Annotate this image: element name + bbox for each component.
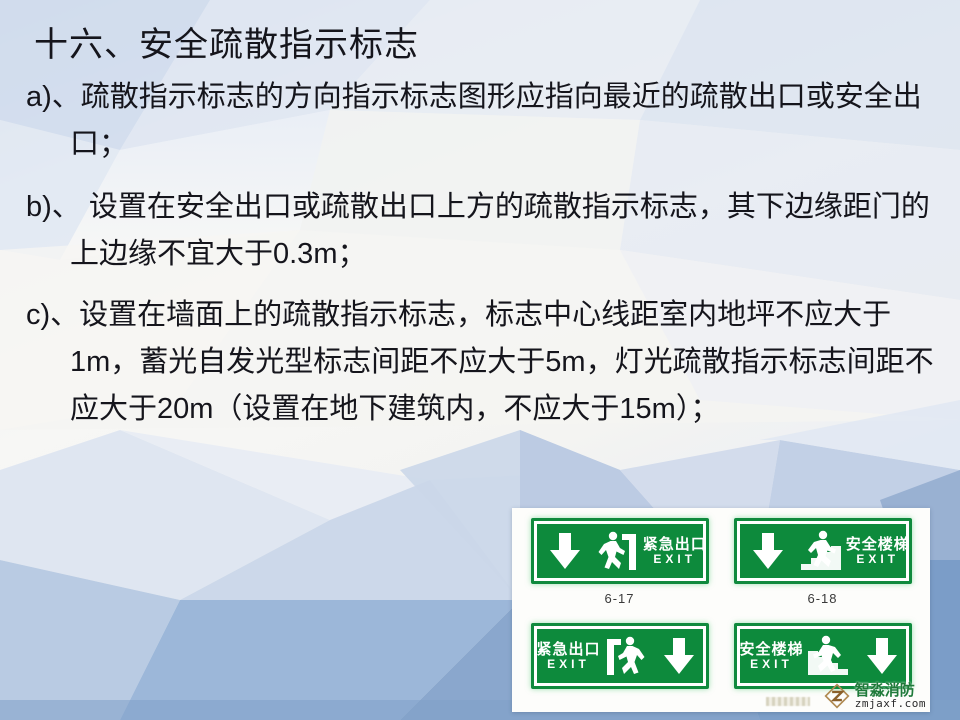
slide-canvas: 十六、安全疏散指示标志 a)、疏散指示标志的方向指示标志图形应指向最近的疏散出口…	[0, 0, 960, 720]
exit-sign-bottom-left: 紧急出口 EXIT	[531, 623, 709, 689]
sign-label-cn: 安全楼梯	[846, 536, 910, 552]
slide-content: 十六、安全疏散指示标志 a)、疏散指示标志的方向指示标志图形应指向最近的疏散出口…	[0, 0, 960, 439]
paragraph-a-marker: a)、	[26, 81, 81, 113]
down-arrow-icon	[853, 629, 909, 683]
sign-label-bottom-right: 安全楼梯 EXIT	[740, 629, 804, 683]
paragraph-c: c)、设置在墙面上的疏散指示标志，标志中心线距室内地坪不应大于1m，蓄光自发光型…	[26, 292, 934, 433]
brand-diamond-logo-icon	[824, 683, 850, 709]
watermark: 智淼消防 zmjaxf.com	[824, 683, 926, 710]
sign-label-cn: 安全楼梯	[740, 641, 804, 657]
page-title: 十六、安全疏散指示标志	[34, 22, 934, 68]
sign-label-en: EXIT	[750, 658, 793, 671]
sign-caption-6-18: 6-18	[807, 591, 837, 606]
down-arrow-icon	[650, 629, 706, 683]
sign-label-top-right: 安全楼梯 EXIT	[846, 524, 910, 578]
sign-label-en: EXIT	[547, 658, 590, 671]
sign-label-cn: 紧急出口	[537, 641, 601, 657]
paragraph-b-marker: b)、	[26, 191, 81, 223]
down-arrow-icon	[740, 524, 796, 578]
sign-caption-6-17: 6-17	[604, 591, 634, 606]
paragraph-b-text: 设置在安全出口或疏散出口上方的疏散指示标志，其下边缘距门的上边缘不宜大于0.3m…	[70, 191, 930, 270]
watermark-smudge	[766, 697, 810, 706]
sign-label-bottom-left: 紧急出口 EXIT	[537, 629, 601, 683]
exit-sign-top-right: 安全楼梯 EXIT	[734, 518, 912, 584]
exit-sign-bottom-right: 安全楼梯 EXIT	[734, 623, 912, 689]
running-person-stairs-icon	[796, 524, 846, 578]
running-person-door-icon	[593, 524, 643, 578]
paragraph-a-text: 疏散指示标志的方向指示标志图形应指向最近的疏散出口或安全出口；	[70, 81, 922, 160]
sign-label-cn: 紧急出口	[643, 536, 707, 552]
sign-cell-top-left: 紧急出口 EXIT 6-17	[526, 518, 713, 623]
down-arrow-icon	[537, 524, 593, 578]
exit-sign-image-panel: 紧急出口 EXIT 6-17	[512, 508, 930, 712]
sign-cell-bottom-left: 紧急出口 EXIT	[526, 623, 713, 707]
running-person-stairs-icon	[804, 629, 854, 683]
sign-label-en: EXIT	[653, 553, 696, 566]
sign-cell-top-right: 安全楼梯 EXIT 6-18	[729, 518, 916, 623]
sign-label-top-left: 紧急出口 EXIT	[643, 524, 707, 578]
paragraph-a: a)、疏散指示标志的方向指示标志图形应指向最近的疏散出口或安全出口；	[26, 74, 934, 168]
paragraph-c-text: 设置在墙面上的疏散指示标志，标志中心线距室内地坪不应大于1m，蓄光自发光型标志间…	[70, 299, 934, 425]
exit-sign-top-left: 紧急出口 EXIT	[531, 518, 709, 584]
watermark-url: zmjaxf.com	[855, 698, 926, 710]
paragraph-c-marker: c)、	[26, 299, 79, 331]
sign-label-en: EXIT	[856, 553, 899, 566]
paragraph-b: b)、 设置在安全出口或疏散出口上方的疏散指示标志，其下边缘距门的上边缘不宜大于…	[26, 184, 934, 278]
running-person-door-icon	[601, 629, 651, 683]
